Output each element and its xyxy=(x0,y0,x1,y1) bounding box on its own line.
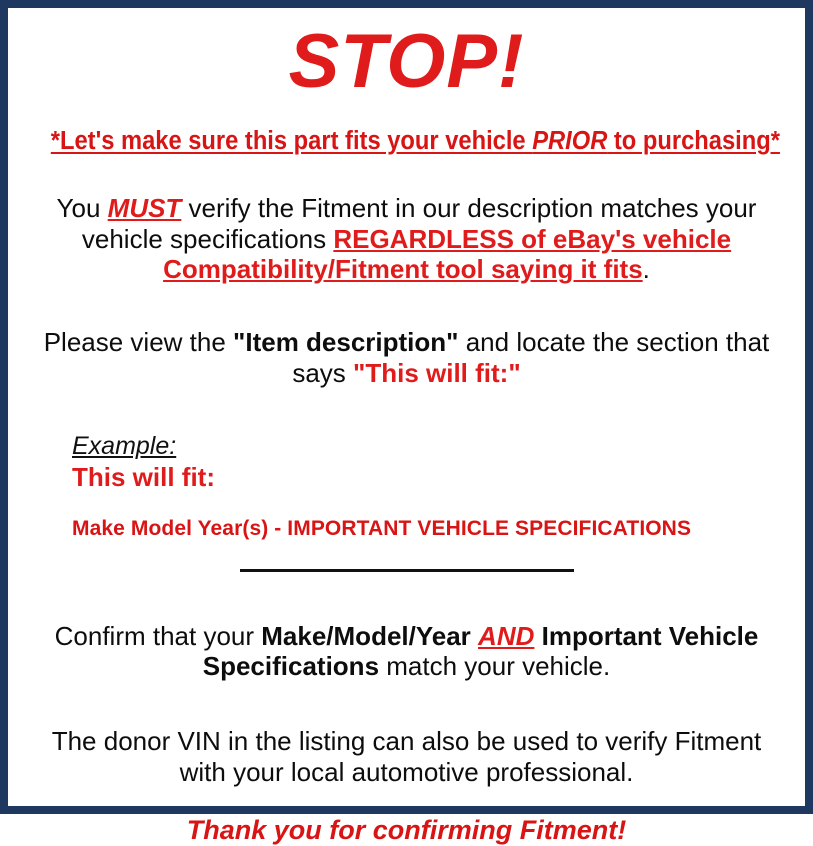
donor-vin-paragraph: The donor VIN in the listing can also be… xyxy=(24,726,789,787)
tagline-part2: to purchasing* xyxy=(607,127,780,155)
fitment-notice-card: STOP! *Let's make sure this part fits yo… xyxy=(0,0,813,814)
confirm-seg7: match your vehicle. xyxy=(379,651,610,681)
must-verify-paragraph: You MUST verify the Fitment in our descr… xyxy=(24,193,789,285)
confirm-seg1: Confirm that your xyxy=(55,621,262,651)
item-description-label: "Item description" xyxy=(233,327,458,357)
itemdesc-seg1: Please view the xyxy=(44,327,233,357)
confirm-paragraph: Confirm that your Make/Model/Year AND Im… xyxy=(24,621,789,682)
horizontal-divider xyxy=(240,569,574,572)
must-seg1: You xyxy=(57,193,108,223)
confirm-seg5 xyxy=(534,621,541,651)
tagline-prior-emphasis: PRIOR xyxy=(532,127,607,155)
example-block: Example: This will fit: Make Model Year(… xyxy=(24,432,789,540)
stop-heading: STOP! xyxy=(24,22,789,101)
tagline-banner: *Let's make sure this part fits your veh… xyxy=(51,127,762,155)
tagline-part1: *Let's make sure this part fits your veh… xyxy=(51,127,532,155)
thank-you-message: Thank you for confirming Fitment! xyxy=(24,815,789,846)
this-will-fit-quote: "This will fit:" xyxy=(353,358,521,388)
and-emphasis: AND xyxy=(478,621,534,651)
example-label: Example: xyxy=(72,432,789,461)
example-fit-heading: This will fit: xyxy=(72,462,789,492)
divider-wrapper xyxy=(24,569,789,583)
item-description-paragraph: Please view the "Item description" and l… xyxy=(24,327,789,388)
make-model-year-emphasis: Make/Model/Year xyxy=(261,621,471,651)
must-emphasis: MUST xyxy=(108,193,182,223)
confirm-seg3 xyxy=(471,621,478,651)
must-seg5: . xyxy=(643,254,650,284)
example-spec-line: Make Model Year(s) - IMPORTANT VEHICLE S… xyxy=(72,517,789,541)
